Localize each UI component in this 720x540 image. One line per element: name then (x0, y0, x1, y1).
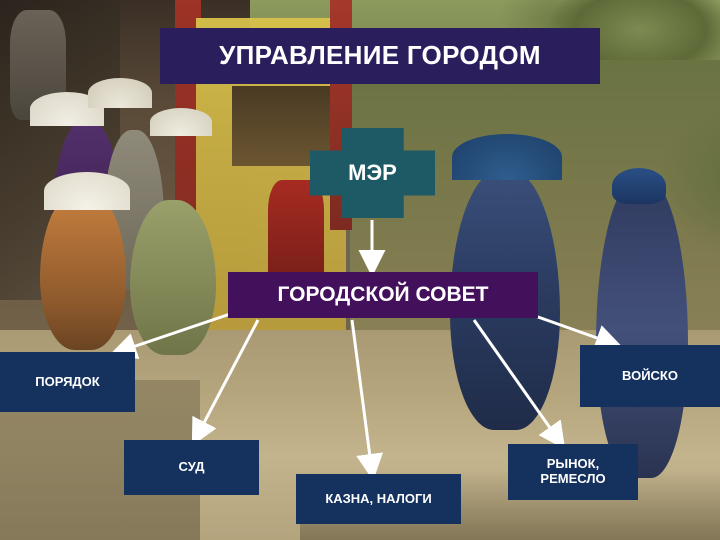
node-city-council: ГОРОДСКОЙ СОВЕТ (228, 272, 538, 318)
arrow-council-to-order (118, 312, 236, 352)
arrow-council-to-market (474, 320, 560, 442)
node-army: ВОЙСКО (580, 345, 720, 407)
slide-canvas: УПРАВЛЕНИЕ ГОРОДОМ МЭР ГОРОДСКОЙ СОВЕТ П… (0, 0, 720, 540)
arrow-council-to-treasury (352, 320, 372, 472)
node-market-crafts: РЫНОК, РЕМЕСЛО (508, 444, 638, 500)
slide-title: УПРАВЛЕНИЕ ГОРОДОМ (160, 28, 600, 84)
node-treasury-taxes: КАЗНА, НАЛОГИ (296, 474, 461, 524)
node-order: ПОРЯДОК (0, 352, 135, 412)
node-court: СУД (124, 440, 259, 495)
arrow-council-to-court (196, 320, 258, 438)
